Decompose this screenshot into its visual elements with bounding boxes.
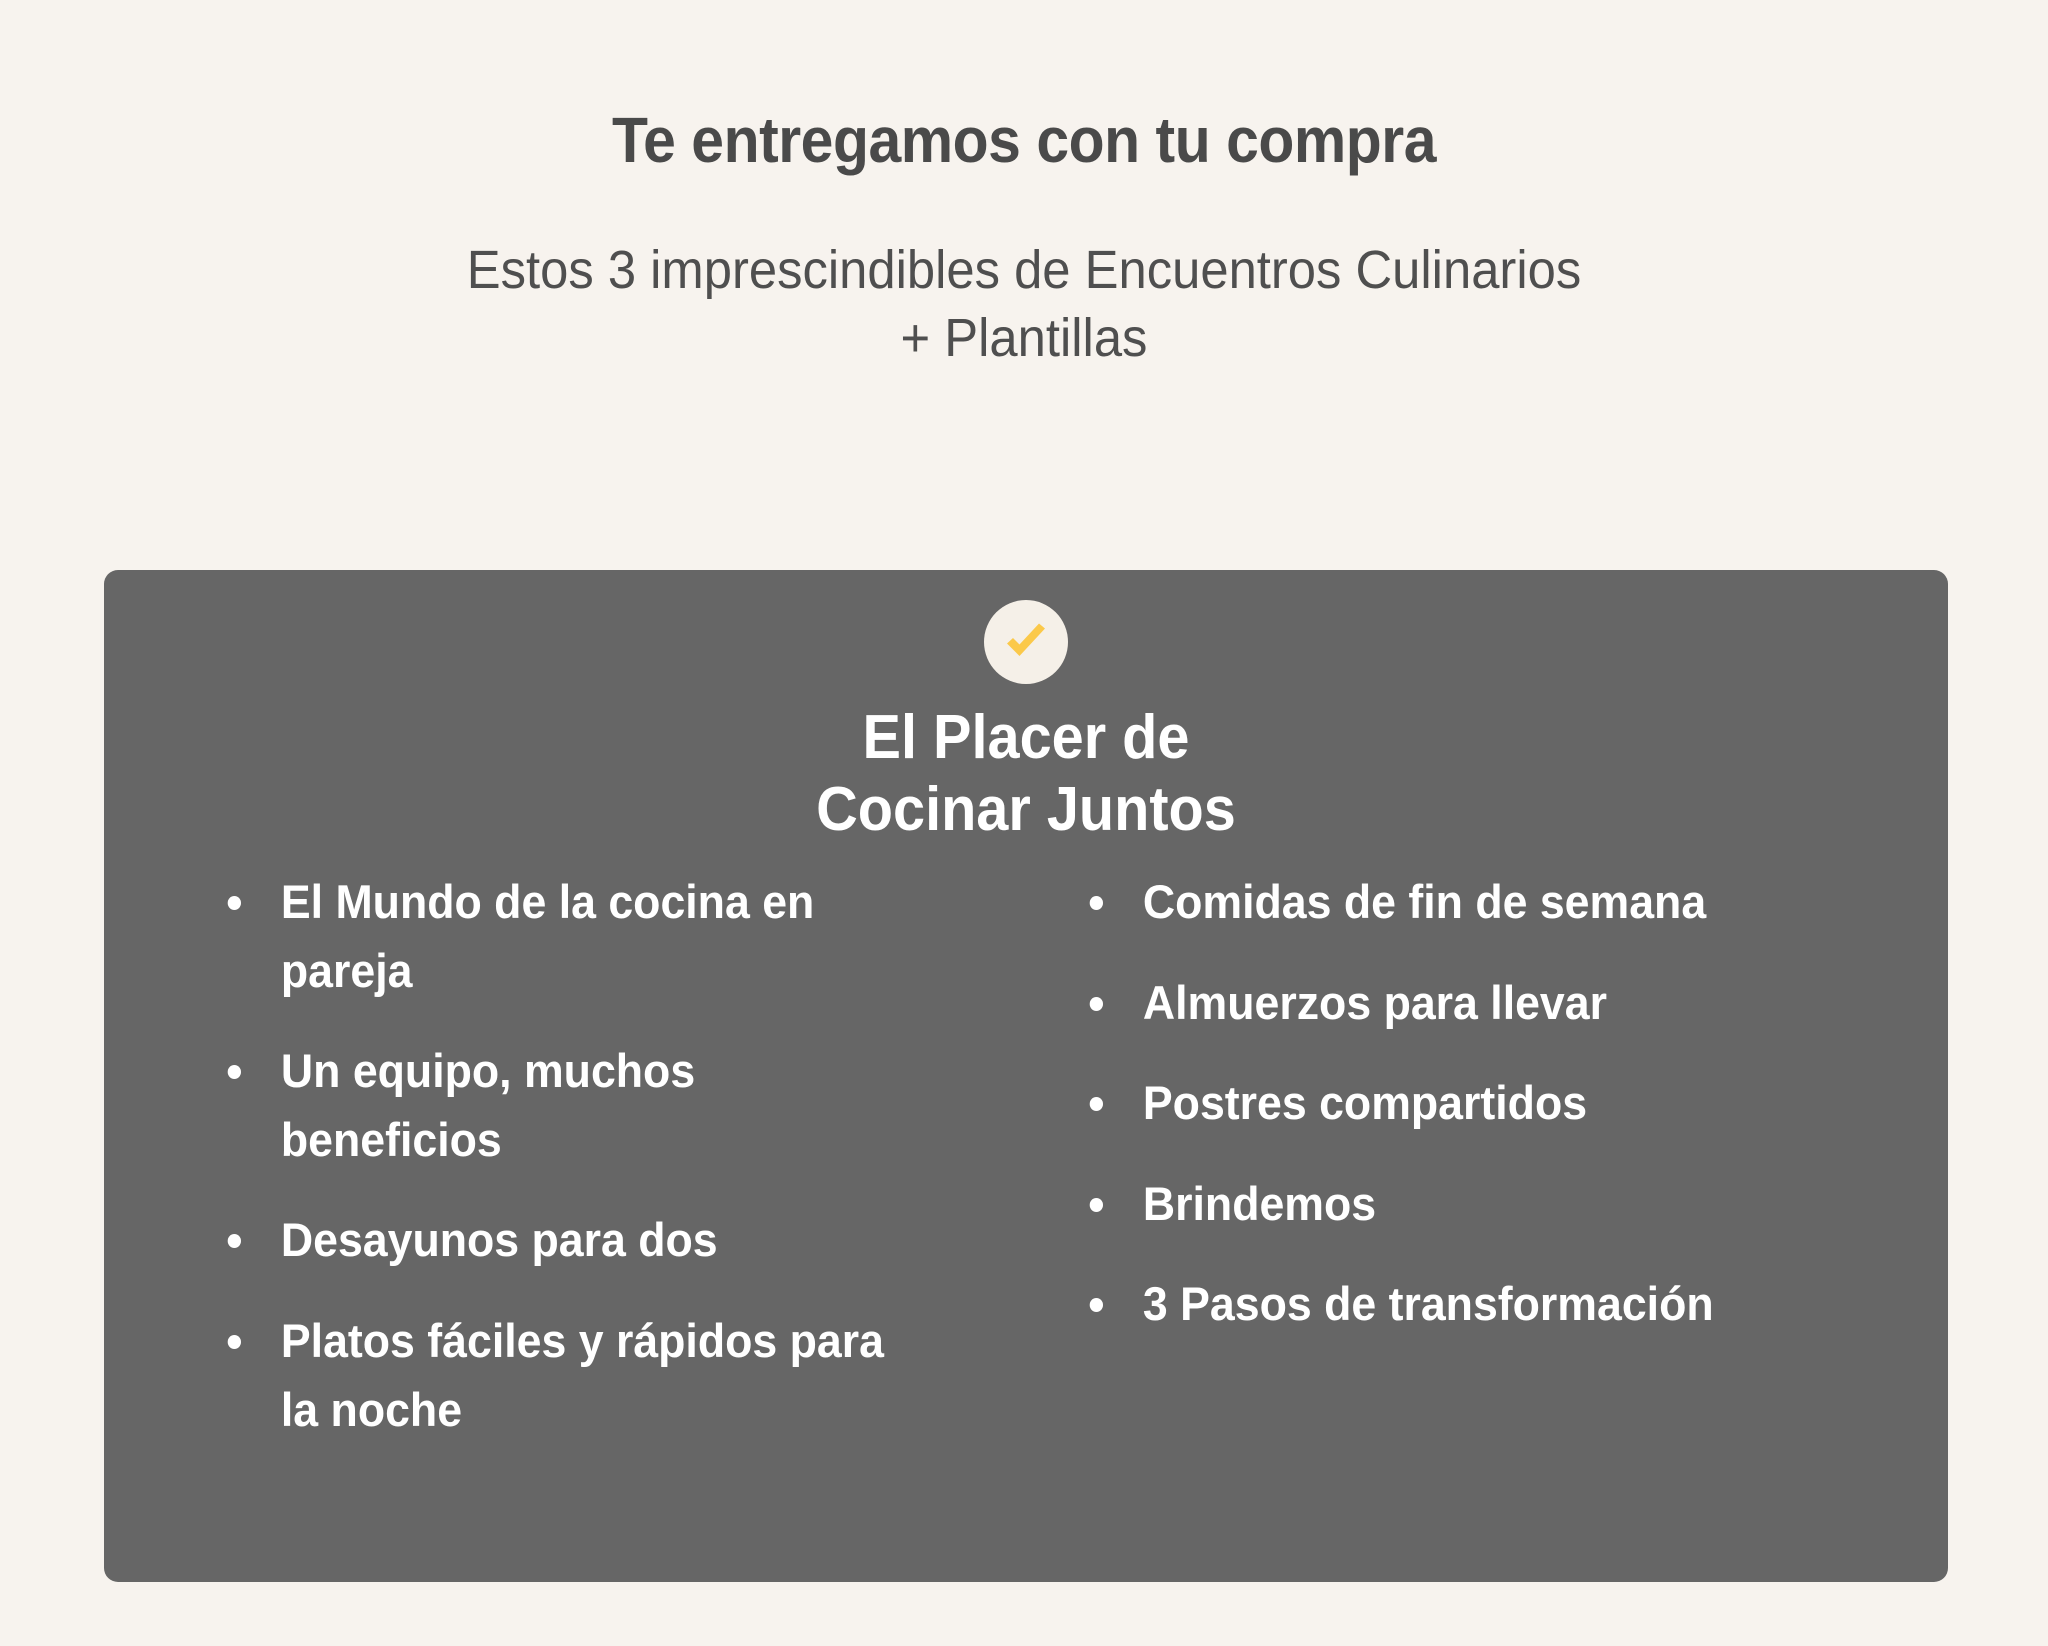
list-item-label: 3 Pasos de transformación [1143, 1277, 1714, 1330]
feature-column-right: Comidas de fin de semana Almuerzos para … [1026, 868, 1948, 1444]
offer-card: El Placer de Cocinar Juntos El Mundo de … [104, 570, 1948, 1582]
bullet-dot-icon [228, 896, 241, 910]
list-item-label: Brindemos [1143, 1177, 1376, 1230]
list-item-label: Un equipo, muchos beneficios [281, 1044, 695, 1166]
list-item: El Mundo de la cocina en pareja [222, 868, 887, 1005]
list-item: Almuerzos para llevar [1084, 969, 1749, 1038]
feature-column-left: El Mundo de la cocina en pareja Un equip… [104, 868, 1026, 1444]
page-subtitle-line-1: Estos 3 imprescindibles de Encuentros Cu… [61, 236, 1986, 304]
bullet-dot-icon [1090, 1198, 1103, 1212]
list-item-label: Desayunos para dos [281, 1213, 718, 1266]
list-item-label: Almuerzos para llevar [1143, 976, 1607, 1029]
bullet-dot-icon [1090, 1298, 1103, 1312]
page-title: Te entregamos con tu compra [82, 108, 1966, 172]
bullet-dot-icon [1090, 1097, 1103, 1111]
list-item: Un equipo, muchos beneficios [222, 1037, 887, 1174]
feature-list-left: El Mundo de la cocina en pareja Un equip… [222, 868, 996, 1444]
bullet-dot-icon [228, 1335, 241, 1349]
card-title-line-1: El Placer de [169, 702, 1884, 774]
card-title-line-2: Cocinar Juntos [169, 774, 1884, 846]
list-item: Desayunos para dos [222, 1206, 887, 1275]
list-item-label: Comidas de fin de semana [1143, 875, 1706, 928]
list-item: Platos fáciles y rápidos para la noche [222, 1307, 887, 1444]
list-item-label: Platos fáciles y rápidos para la noche [281, 1314, 884, 1436]
header: Te entregamos con tu compra Estos 3 impr… [0, 0, 2048, 372]
feature-columns: El Mundo de la cocina en pareja Un equip… [104, 868, 1948, 1444]
list-item: Comidas de fin de semana [1084, 868, 1749, 937]
bullet-dot-icon [1090, 896, 1103, 910]
bullet-dot-icon [228, 1065, 241, 1079]
bullet-dot-icon [228, 1234, 241, 1248]
list-item: Brindemos [1084, 1170, 1749, 1239]
list-item-label: El Mundo de la cocina en pareja [281, 875, 814, 997]
card-title: El Placer de Cocinar Juntos [169, 702, 1884, 846]
list-item: 3 Pasos de transformación [1084, 1270, 1749, 1339]
page-subtitle: Estos 3 imprescindibles de Encuentros Cu… [61, 236, 1986, 372]
promo-page: Te entregamos con tu compra Estos 3 impr… [0, 0, 2048, 1646]
list-item: Postres compartidos [1084, 1069, 1749, 1138]
page-subtitle-line-2: + Plantillas [61, 304, 1986, 372]
bullet-dot-icon [1090, 997, 1103, 1011]
list-item-label: Postres compartidos [1143, 1076, 1587, 1129]
feature-list-right: Comidas de fin de semana Almuerzos para … [1084, 868, 1918, 1339]
check-circle-icon [984, 600, 1068, 684]
